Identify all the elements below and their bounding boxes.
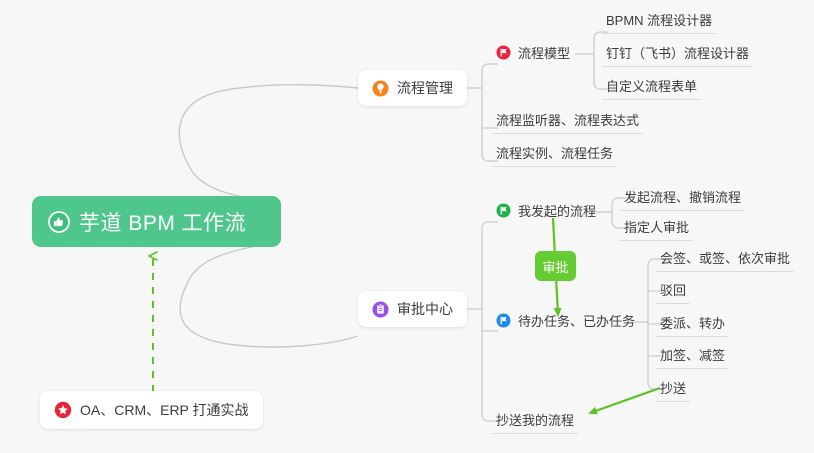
star-icon [54,401,72,419]
node-custom-process-form-label: 自定义流程表单 [606,76,697,95]
node-process-model-label: 流程模型 [518,43,570,62]
node-designated-approver-label: 指定人审批 [624,217,689,236]
node-oa-crm-erp-card-label: OA、CRM、ERP 打通实战 [80,400,249,420]
lightbulb-icon [372,80,389,97]
node-cc-to-me-processes[interactable]: 抄送我的流程 [492,408,578,434]
node-process-model[interactable]: 流程模型 [492,41,574,67]
annotation-chip-approval-label: 审批 [542,257,568,276]
node-todo-done-tasks[interactable]: 待办任务、已办任务 [492,309,639,335]
flag-icon [496,45,511,60]
node-approval-center-label: 审批中心 [397,299,453,319]
node-oa-crm-erp-card[interactable]: OA、CRM、ERP 打通实战 [40,391,263,429]
root-node[interactable]: 芋道 BPM 工作流 [32,196,281,247]
node-dingtalk-feishu-designer-label: 钉钉（飞书）流程设计器 [606,43,749,62]
annotation-arrow-cc [590,388,660,413]
node-approval-center[interactable]: 审批中心 [358,291,467,327]
node-start-cancel-process[interactable]: 发起流程、撤销流程 [620,185,745,211]
node-bpmn-designer-label: BPMN 流程设计器 [606,10,712,29]
node-designated-approver[interactable]: 指定人审批 [620,215,693,241]
annotation-chip-approval[interactable]: 审批 [535,251,576,281]
node-cc[interactable]: 抄送 [656,376,690,402]
node-cc-to-me-processes-label: 抄送我的流程 [496,410,574,429]
node-reject-label: 驳回 [660,280,686,299]
mindmap-canvas: 芋道 BPM 工作流 流程管理 流程模型 BPMN 流程设计器 钉钉（飞书）流 [0,0,814,453]
node-start-cancel-process-label: 发起流程、撤销流程 [624,187,741,206]
clipboard-icon [372,301,389,318]
node-custom-process-form[interactable]: 自定义流程表单 [602,74,701,100]
node-countersign-orsign-sequential-label: 会签、或签、依次审批 [660,248,790,267]
node-my-started-processes[interactable]: 我发起的流程 [492,199,600,225]
node-countersign-orsign-sequential[interactable]: 会签、或签、依次审批 [656,246,794,272]
edge-root-to-process-management [179,85,358,203]
node-process-listener-expression-label: 流程监听器、流程表达式 [496,110,639,129]
node-process-listener-expression[interactable]: 流程监听器、流程表达式 [492,108,643,134]
node-process-instance-task[interactable]: 流程实例、流程任务 [492,141,617,167]
node-cc-label: 抄送 [660,378,686,397]
node-process-management-label: 流程管理 [397,78,453,98]
node-delegate-transfer-label: 委派、转办 [660,313,725,332]
node-process-instance-task-label: 流程实例、流程任务 [496,143,613,162]
edge-root-to-approval-center [180,241,358,347]
node-dingtalk-feishu-designer[interactable]: 钉钉（飞书）流程设计器 [602,41,753,67]
node-my-started-processes-label: 我发起的流程 [518,201,596,220]
flag-icon [496,313,511,328]
node-delegate-transfer[interactable]: 委派、转办 [656,311,729,337]
node-add-remove-signer-label: 加签、减签 [660,345,725,364]
node-todo-done-tasks-label: 待办任务、已办任务 [518,311,635,330]
flag-icon [496,203,511,218]
node-process-management[interactable]: 流程管理 [358,70,467,106]
node-reject[interactable]: 驳回 [656,278,690,304]
root-label: 芋道 BPM 工作流 [79,207,246,237]
thumbs-up-icon [48,211,70,233]
node-bpmn-designer[interactable]: BPMN 流程设计器 [602,8,716,34]
node-add-remove-signer[interactable]: 加签、减签 [656,343,729,369]
